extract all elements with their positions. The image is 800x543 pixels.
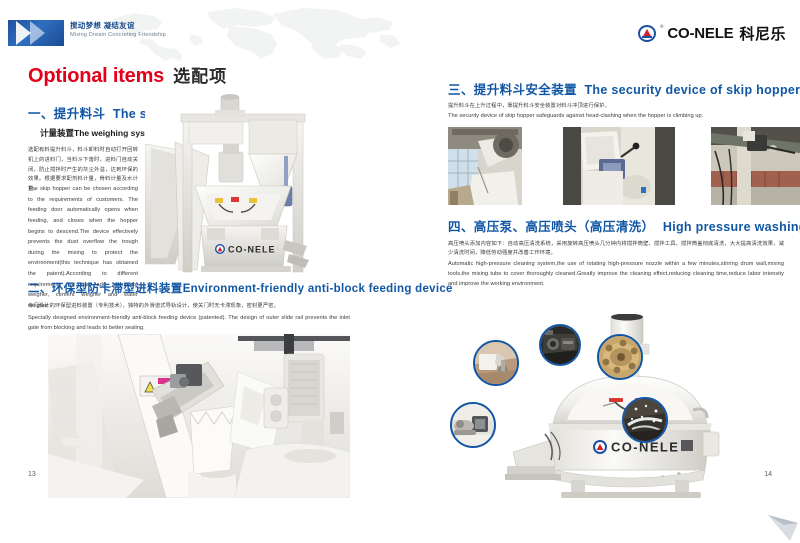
section-3-heading-cn: 三、提升料斗安全装置	[448, 83, 577, 97]
brand-name-en: CO-NELE	[667, 25, 733, 42]
section-3-heading-en: The security device of skip hopper	[585, 83, 800, 97]
section-4-heading-cn: 四、高压泵、高压喷头（高压清洗）	[448, 220, 654, 234]
brand-name-cn: 科尼乐	[739, 23, 786, 44]
chevron-shape-2	[30, 21, 45, 45]
page-corner-fold	[766, 513, 800, 543]
right-page: 三、提升料斗安全装置 The security device of skip h…	[400, 62, 800, 502]
section-1-heading-cn: 一、提升料斗	[28, 107, 105, 121]
photo-skip-hopper-machine: CO-NELE	[145, 94, 350, 284]
double-chevron-logo	[8, 20, 64, 46]
brand-lockup: ® CO-NELE 科尼乐	[638, 23, 786, 44]
callout-high-pressure-pump	[450, 402, 496, 448]
page-title: Optional items 选配项	[28, 62, 227, 88]
section-4-body-cn: 高压喷头添加内容如下：自动高压清洗系统，采用旋转高压喷头几分钟内将搅拌筒壁、搅拌…	[448, 240, 784, 259]
section-2-heading-cn: 二、环保型防卡滞型进料装置	[28, 283, 183, 295]
section-heading-feeding-device: 二、环保型防卡滞型进料装置Environment-friendly anti-b…	[28, 280, 453, 296]
section-heading-high-pressure-washing: 四、高压泵、高压喷头（高压清洗） High pressure washing	[448, 216, 800, 235]
page-number-right: 14	[764, 471, 772, 478]
svg-text:CO-NELE: CO-NELE	[228, 245, 276, 255]
callout-water-spray	[622, 397, 668, 443]
section-heading-security-device: 三、提升料斗安全装置 The security device of skip h…	[448, 79, 800, 98]
registered-mark: ®	[660, 24, 663, 29]
section-4-heading-en: High pressure washing	[663, 220, 800, 234]
section-4-body-en: Automatic high-pressure cleaning system,…	[448, 260, 784, 289]
chevron-shape-1	[16, 21, 31, 45]
photo-anti-block-feeding-device	[48, 334, 350, 498]
photo-security-device-3	[711, 127, 800, 205]
page-title-cn: 选配项	[173, 62, 227, 87]
callout-control-unit	[539, 324, 581, 366]
section-3-body-en: The security device of skip hopper safeg…	[448, 112, 778, 122]
section-3-body-cn: 提升料斗在上升过程中，靠提升料斗安全装置对料斗冲顶进行保护。	[448, 102, 778, 111]
header-tagline: 搅动梦想 凝结友谊 Mixing Dream Concreting Friend…	[70, 22, 166, 38]
photo-security-device-2	[563, 127, 675, 205]
callout-nozzle-closeup	[473, 340, 519, 386]
page-title-en: Optional items	[28, 65, 164, 88]
brochure-spread: 搅动梦想 凝结友谊 Mixing Dream Concreting Friend…	[0, 0, 800, 543]
left-page: Optional items 选配项 一、提升料斗 The skip hoppe…	[0, 62, 400, 502]
tagline-chinese: 搅动梦想 凝结友谊	[70, 22, 166, 31]
section-2-body-en: Specially designed environment-friendly …	[28, 314, 350, 333]
photo-security-device-1	[448, 127, 522, 205]
section-2-body-cn: 专门设计的环保型进料装置（专利技术），独特的外滑道式导轨设计，使关门时无卡滞现象…	[28, 302, 350, 311]
callout-rotating-head	[597, 334, 643, 380]
tagline-english: Mixing Dream Concreting Friendship	[70, 32, 166, 38]
co-nele-logo-icon	[638, 25, 656, 42]
page-number-left: 13	[28, 471, 36, 478]
section-1-subheading: 计量装置The weighing system	[40, 127, 160, 139]
